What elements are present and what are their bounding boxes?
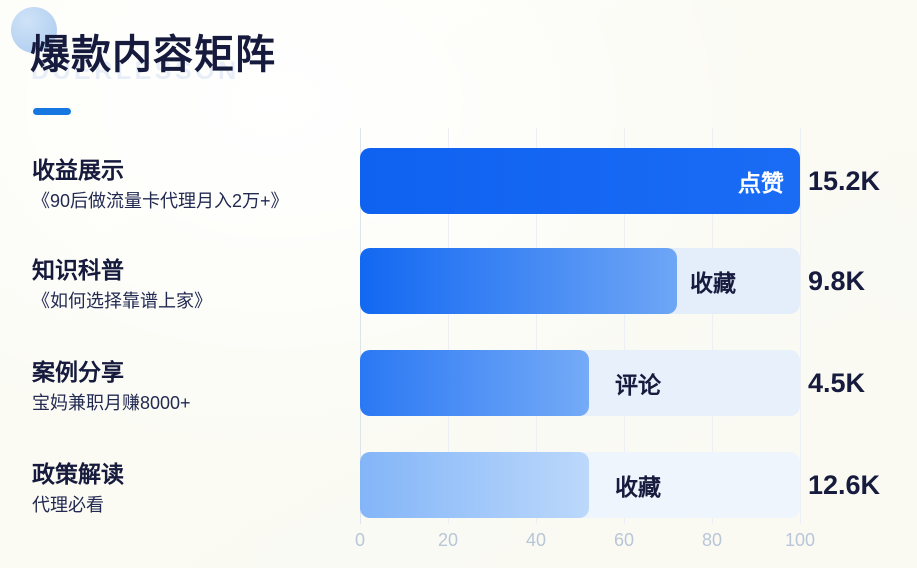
x-axis-tick-100: 100 [785, 530, 815, 551]
bar-value-label: 15.2K [808, 148, 880, 214]
category-title: 政策解读 [32, 460, 124, 489]
category-title: 知识科普 [32, 256, 212, 285]
bar-value-label: 9.8K [808, 248, 865, 314]
category-title: 收益展示 [32, 156, 289, 185]
accent-bar [33, 108, 71, 115]
bar-metric-label: 收藏 [690, 248, 736, 314]
bar-row[interactable]: 点赞15.2K [360, 148, 800, 214]
category-label: 政策解读代理必看 [32, 460, 124, 517]
bar-fill [360, 248, 677, 314]
bar-metric-label: 评论 [615, 350, 661, 416]
category-label: 收益展示《90后做流量卡代理月入2万+》 [32, 156, 289, 213]
x-axis-tick-40: 40 [526, 530, 546, 551]
x-axis-tick-0: 0 [355, 530, 365, 551]
bar-fill [360, 452, 589, 518]
x-axis-tick-20: 20 [438, 530, 458, 551]
bar-metric-label: 点赞 [738, 148, 784, 214]
bar-fill [360, 350, 589, 416]
bar-row[interactable]: 收藏9.8K [360, 248, 800, 314]
category-title: 案例分享 [32, 358, 191, 387]
category-label: 知识科普《如何选择靠谱上家》 [32, 256, 212, 313]
x-axis-tick-60: 60 [614, 530, 634, 551]
category-subtitle: 宝妈兼职月赚8000+ [32, 392, 191, 415]
gridline-100 [800, 128, 801, 524]
plot-area: 020406080100点赞15.2K收藏9.8K评论4.5K收藏12.6K [360, 128, 800, 524]
bar-row[interactable]: 评论4.5K [360, 350, 800, 416]
slide-canvas: DUERLESSON 爆款内容矩阵 020406080100点赞15.2K收藏9… [0, 0, 917, 568]
bar-value-label: 4.5K [808, 350, 865, 416]
category-subtitle: 《如何选择靠谱上家》 [32, 290, 212, 313]
bar-row[interactable]: 收藏12.6K [360, 452, 800, 518]
category-subtitle: 《90后做流量卡代理月入2万+》 [32, 190, 289, 213]
x-axis-tick-80: 80 [702, 530, 722, 551]
bar-value-label: 12.6K [808, 452, 880, 518]
bar-metric-label: 收藏 [615, 452, 661, 518]
page-title: 爆款内容矩阵 [30, 22, 276, 80]
category-subtitle: 代理必看 [32, 494, 124, 517]
category-label: 案例分享宝妈兼职月赚8000+ [32, 358, 191, 415]
bar-fill [360, 148, 800, 214]
